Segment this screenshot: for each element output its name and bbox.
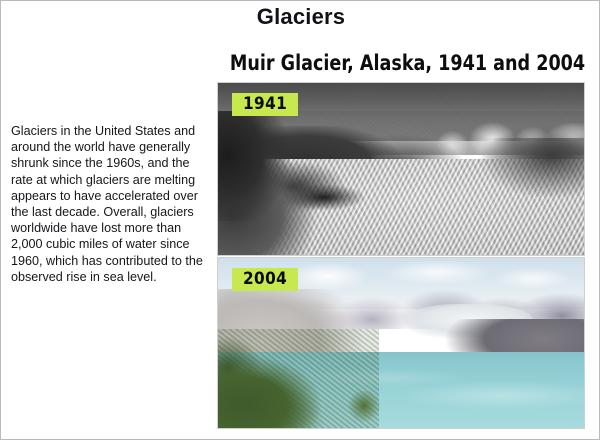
page-title: Glaciers: [1, 4, 600, 30]
year-badge-1941: 1941: [232, 93, 298, 116]
photo-2004-foreground-shrub: [342, 391, 386, 428]
year-badge-2004: 2004: [232, 268, 298, 291]
photo-muir-glacier-2004: 2004: [217, 257, 585, 429]
photo-muir-glacier-1941: 1941: [217, 82, 585, 256]
body-paragraph: Glaciers in the United States and around…: [11, 123, 207, 285]
slide-page: Glaciers Muir Glacier, Alaska, 1941 and …: [0, 0, 600, 440]
figure-title: Muir Glacier, Alaska, 1941 and 2004: [230, 51, 572, 75]
